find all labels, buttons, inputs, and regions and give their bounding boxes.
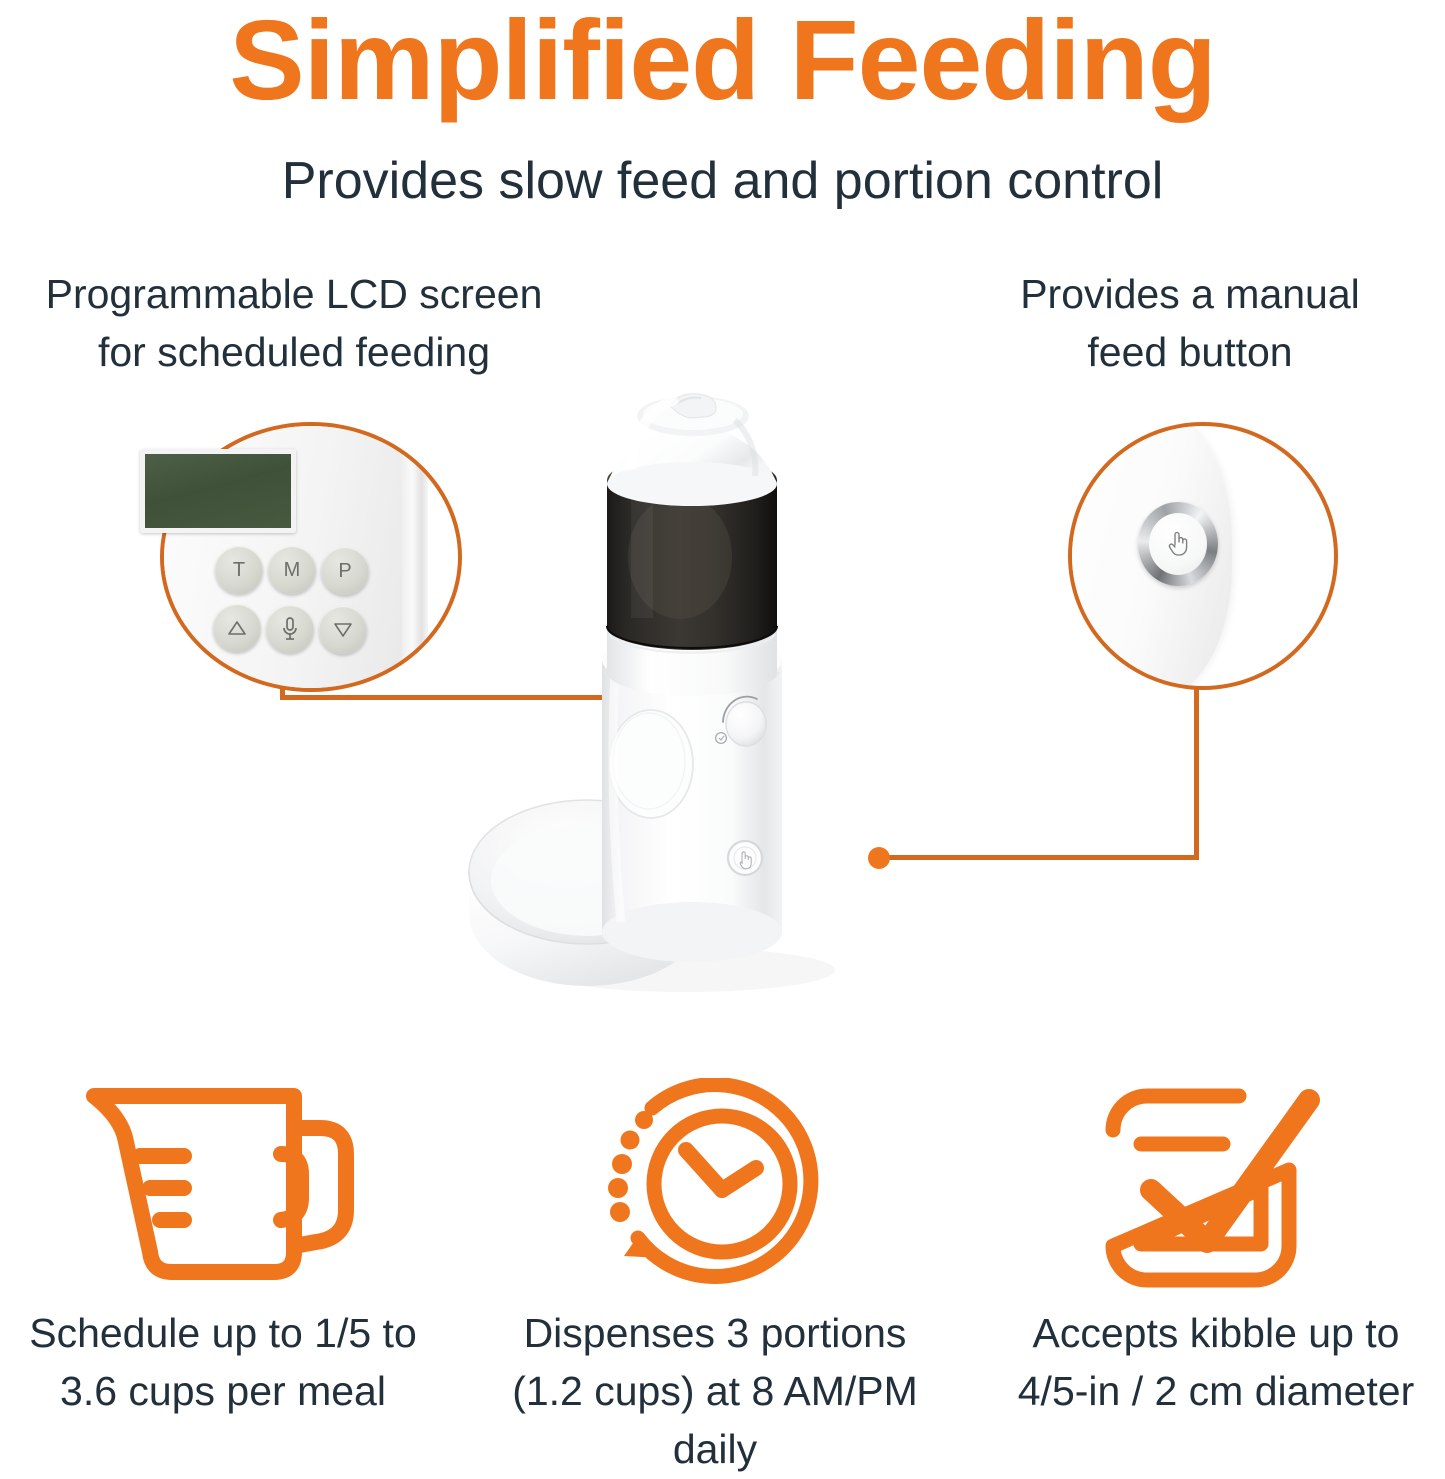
- connector-line-manual-vertical: [1194, 676, 1199, 860]
- callout-label-lcd-line1: Programmable LCD screen: [4, 265, 584, 323]
- feature-measuring-cup-caption: Schedule up to 1/5 to 3.6 cups per meal: [6, 1304, 440, 1420]
- microphone-icon: [281, 616, 299, 642]
- infographic-canvas: Simplified Feeding Provides slow feed an…: [0, 0, 1445, 1462]
- feature-2-caption-line2: (1.2 cups) at 8 AM/PM daily: [500, 1362, 930, 1478]
- up-triangle-icon: [226, 618, 248, 638]
- page-subtitle: Provides slow feed and portion control: [0, 150, 1445, 212]
- key-up[interactable]: [213, 604, 261, 652]
- key-timer-label: T: [233, 559, 245, 582]
- key-portion-label: P: [338, 560, 351, 583]
- manual-feed-button: [728, 841, 762, 875]
- feature-2-caption-line1: Dispenses 3 portions: [500, 1304, 930, 1362]
- key-portion[interactable]: P: [321, 547, 369, 595]
- key-timer[interactable]: T: [215, 546, 263, 594]
- hopper-lid: [607, 394, 777, 506]
- feature-kibble-size: Accepts kibble up to 4/5-in / 2 cm diame…: [1000, 1078, 1430, 1420]
- page-title: Simplified Feeding: [0, 0, 1445, 127]
- manual-feed-button-zoom[interactable]: [1138, 502, 1218, 586]
- manual-feed-button-face: [1149, 513, 1207, 575]
- feature-measuring-cup: Schedule up to 1/5 to 3.6 cups per meal: [10, 1078, 440, 1420]
- callout-label-manual-feed-line1: Provides a manual: [940, 265, 1440, 323]
- feature-1-caption-line2: 3.6 cups per meal: [6, 1362, 440, 1420]
- dispenser-door-panel: [609, 710, 693, 818]
- clock-refresh-icon: [500, 1078, 930, 1290]
- checkbox-check-icon: [1000, 1078, 1430, 1290]
- key-mode[interactable]: M: [268, 546, 316, 594]
- feature-schedule-clock-caption: Dispenses 3 portions (1.2 cups) at 8 AM/…: [500, 1304, 930, 1479]
- callout-label-lcd: Programmable LCD screen for scheduled fe…: [4, 265, 584, 381]
- measuring-cup-icon: [10, 1078, 440, 1290]
- lcd-screen: [140, 449, 296, 533]
- callout-label-manual-feed-line2: feed button: [940, 323, 1440, 381]
- key-voice-record[interactable]: [266, 605, 314, 653]
- down-triangle-icon: [332, 620, 354, 640]
- product-image-automatic-pet-feeder: [455, 372, 925, 1012]
- feature-schedule-clock: Dispenses 3 portions (1.2 cups) at 8 AM/…: [500, 1078, 930, 1479]
- feature-3-caption-line1: Accepts kibble up to: [1002, 1304, 1430, 1362]
- connector-line-manual-horizontal: [878, 855, 1199, 860]
- feature-kibble-size-caption: Accepts kibble up to 4/5-in / 2 cm diame…: [1002, 1304, 1430, 1420]
- hand-press-icon: [1165, 527, 1191, 562]
- key-mode-label: M: [284, 559, 301, 582]
- feature-3-caption-line2: 4/5-in / 2 cm diameter: [1002, 1362, 1430, 1420]
- callout-label-manual-feed: Provides a manual feed button: [940, 265, 1440, 381]
- product-svg: [455, 372, 925, 1012]
- feature-1-caption-line1: Schedule up to 1/5 to: [6, 1304, 440, 1362]
- key-down[interactable]: [319, 606, 367, 654]
